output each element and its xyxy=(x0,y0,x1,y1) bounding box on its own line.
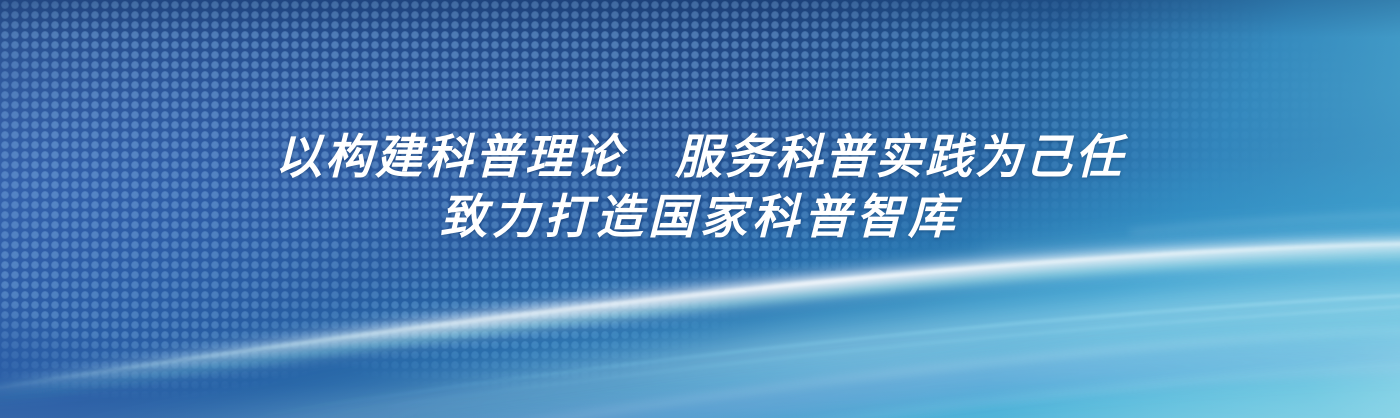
hero-banner: 以构建科普理论 服务科普实践为己任 致力打造国家科普智库 xyxy=(0,0,1400,418)
banner-headline: 以构建科普理论 服务科普实践为己任 致力打造国家科普智库 xyxy=(0,128,1400,248)
headline-line-1: 以构建科普理论 服务科普实践为己任 xyxy=(0,128,1400,188)
headline-line-2: 致力打造国家科普智库 xyxy=(0,188,1400,248)
